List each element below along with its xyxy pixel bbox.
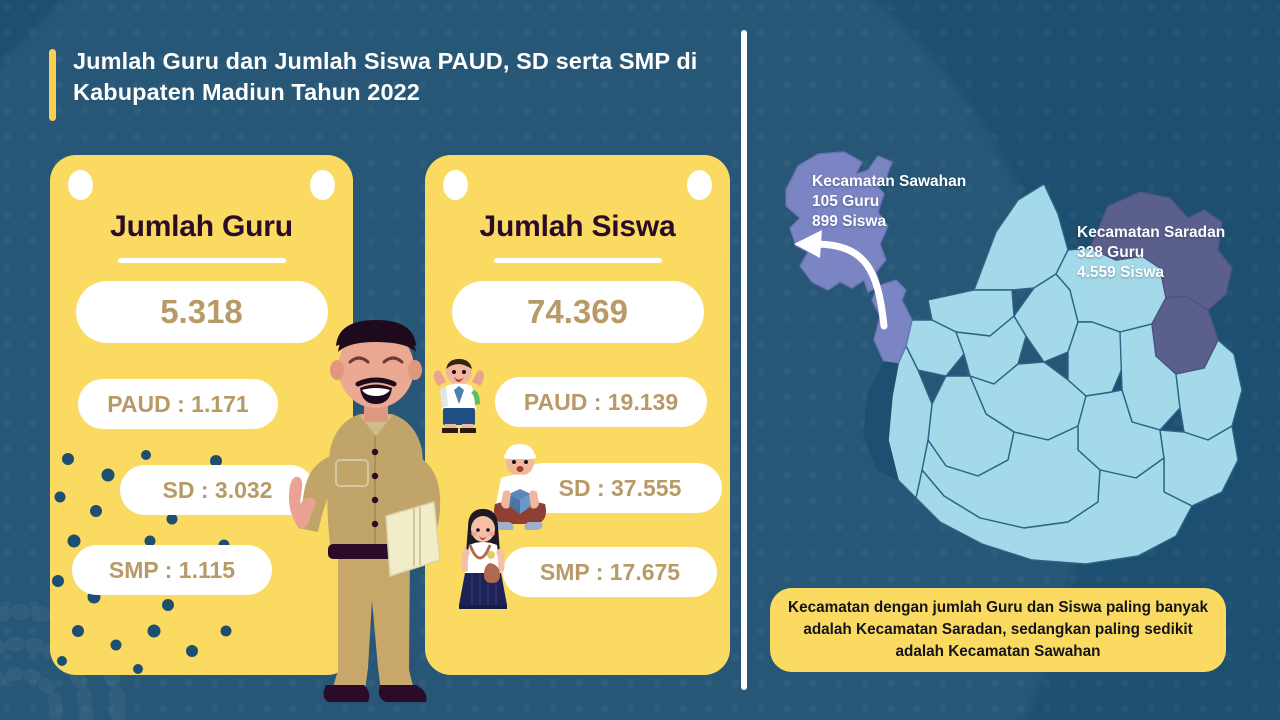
panel-divider xyxy=(741,30,747,690)
heading-accent-bar xyxy=(49,49,56,121)
card-hole-right xyxy=(687,170,712,200)
card-title-guru: Jumlah Guru xyxy=(50,210,353,244)
card-title-siswa: Jumlah Siswa xyxy=(425,210,730,244)
left-heading-text: Jumlah Guru dan Jumlah Siswa PAUD, SD se… xyxy=(73,46,729,107)
stat-pill-guru-paud: PAUD : 1.171 xyxy=(78,379,278,429)
map-region-01 xyxy=(974,184,1068,290)
stat-pill-siswa-paud: PAUD : 19.139 xyxy=(495,377,707,427)
map-label-sawahan-name: Kecamatan Sawahan xyxy=(812,172,966,192)
map-label-sawahan: Kecamatan Sawahan 105 Guru 899 Siswa xyxy=(812,172,966,232)
card-title-underline xyxy=(494,258,662,263)
map-label-saradan-name: Kecamatan Saradan xyxy=(1077,223,1225,243)
left-panel: Jumlah Guru dan Jumlah Siswa PAUD, SD se… xyxy=(0,0,744,720)
card-title-underline xyxy=(118,258,286,263)
map-label-saradan: Kecamatan Saradan 328 Guru 4.559 Siswa xyxy=(1077,223,1225,283)
conclusion-note-text: Kecamatan dengan jumlah Guru dan Siswa p… xyxy=(786,597,1210,662)
map-label-saradan-guru: 328 Guru xyxy=(1077,243,1225,263)
card-hole-left xyxy=(443,170,468,200)
stat-pill-guru-smp: SMP : 1.115 xyxy=(72,545,272,595)
map-label-saradan-siswa: 4.559 Siswa xyxy=(1077,263,1225,283)
card-hole-right xyxy=(310,170,335,200)
map-label-sawahan-guru: 105 Guru xyxy=(812,192,966,212)
map-region-08 xyxy=(1068,322,1124,396)
conclusion-note-box: Kecamatan dengan jumlah Guru dan Siswa p… xyxy=(770,588,1226,672)
left-panel-heading: Jumlah Guru dan Jumlah Siswa PAUD, SD se… xyxy=(49,46,729,121)
smp-girl-illustration xyxy=(452,505,514,617)
card-hole-left xyxy=(68,170,93,200)
map-region-13 xyxy=(1160,426,1238,506)
paud-boy-illustration xyxy=(428,358,490,436)
stat-pill-siswa-smp: SMP : 17.675 xyxy=(503,547,717,597)
map-label-sawahan-siswa: 899 Siswa xyxy=(812,212,966,232)
total-value-siswa: 74.369 xyxy=(452,281,704,343)
